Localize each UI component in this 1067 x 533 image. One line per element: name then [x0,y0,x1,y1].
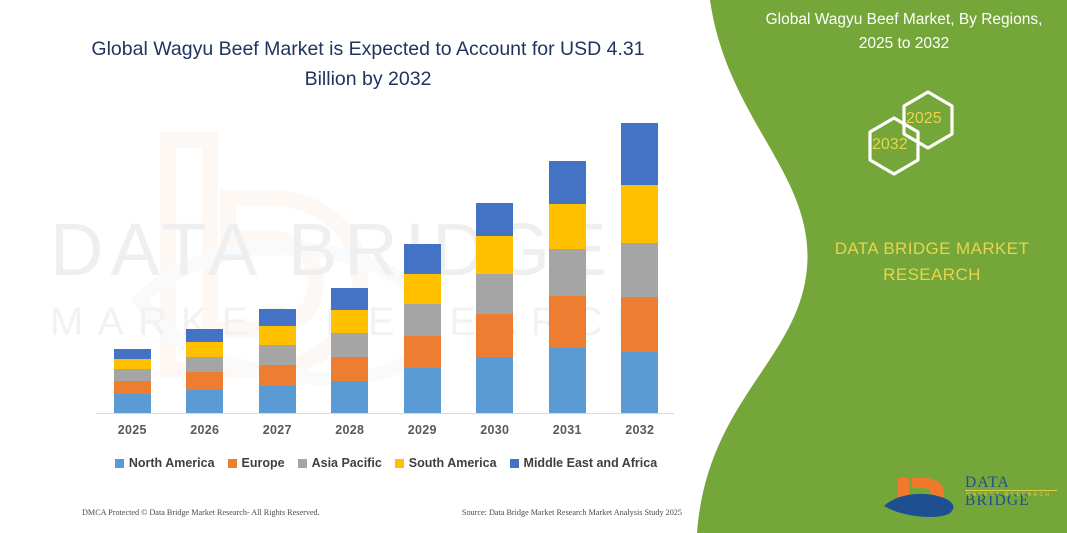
stacked-bar [259,309,296,413]
hexagon-2032-label: 2032 [872,136,908,154]
stacked-bar [476,203,513,413]
hexagon-2025-label: 2025 [906,110,942,128]
legend-item[interactable]: Middle East and Africa [510,456,658,470]
legend-label: Middle East and Africa [524,456,658,470]
bar-segment [621,123,658,186]
legend-item[interactable]: Asia Pacific [298,456,382,470]
bar-segment [476,357,513,413]
x-axis-tick-label: 2029 [386,423,458,437]
bar-column [604,110,676,413]
stacked-bar [404,244,441,413]
legend-swatch-icon [510,459,519,468]
stacked-bar [621,123,658,413]
bar-segment [549,204,586,249]
bar-segment [114,359,151,369]
legend-swatch-icon [395,459,404,468]
bar-segment [259,386,296,413]
chart-legend: North AmericaEuropeAsia PacificSouth Ame… [96,456,676,470]
bar-segment [476,314,513,357]
bar-segment [404,368,441,413]
bar-column [459,110,531,413]
bar-segment [331,381,368,413]
stacked-bar [186,329,223,413]
bar-segment [549,296,586,348]
bar-segment [114,394,151,413]
legend-item[interactable]: South America [395,456,497,470]
bar-segment [114,381,151,395]
stacked-bar [114,349,151,413]
x-axis-tick-label: 2031 [531,423,603,437]
hexagon-group: 2032 2025 [828,88,988,208]
x-axis-labels: 20252026202720282029203020312032 [96,423,676,437]
legend-label: Asia Pacific [312,456,382,470]
right-panel-title: Global Wagyu Beef Market, By Regions, 20… [759,8,1049,56]
bar-segment [621,297,658,352]
bar-segment [549,161,586,204]
bar-segment [621,185,658,242]
legend-label: South America [409,456,497,470]
bar-segment [331,333,368,357]
bar-column [241,110,313,413]
footer: DMCA Protected © Data Bridge Market Rese… [82,508,682,517]
bar-segment [259,326,296,345]
bar-column [531,110,603,413]
brand-title: DATA BRIDGE MARKET RESEARCH [800,236,1064,287]
bar-segment [621,352,658,413]
legend-swatch-icon [228,459,237,468]
bar-segment [549,348,586,413]
footer-dmca-text: DMCA Protected © Data Bridge Market Rese… [82,508,320,517]
x-axis-line [96,413,674,414]
chart-title: Global Wagyu Beef Market is Expected to … [78,34,658,94]
bar-segment [331,357,368,381]
x-axis-tick-label: 2027 [241,423,313,437]
bar-column [96,110,168,413]
bar-segment [186,342,223,357]
legend-swatch-icon [115,459,124,468]
logo-divider [965,490,1057,491]
bar-segment [186,357,223,373]
bar-segment [259,309,296,327]
bar-segment [186,372,223,390]
bar-segment [186,329,223,342]
x-axis-tick-label: 2025 [96,423,168,437]
legend-label: Europe [242,456,285,470]
legend-item[interactable]: North America [115,456,215,470]
bar-segment [549,249,586,296]
hexagon-outlines-icon [828,88,988,208]
bar-segment [476,203,513,236]
stacked-bar-chart [96,110,676,413]
bar-segment [186,390,223,413]
stacked-bar [331,288,368,413]
bar-segment [114,369,151,380]
x-axis-tick-label: 2028 [314,423,386,437]
logo-tagline: MARKET RESEARCH [966,492,1051,498]
legend-item[interactable]: Europe [228,456,285,470]
bar-segment [331,310,368,333]
bar-segment [259,365,296,386]
legend-swatch-icon [298,459,307,468]
bar-segment [114,349,151,358]
bar-segment [621,243,658,297]
x-axis-tick-label: 2030 [459,423,531,437]
bar-segment [404,304,441,335]
x-axis-tick-label: 2026 [169,423,241,437]
x-axis-tick-label: 2032 [604,423,676,437]
bar-segment [404,336,441,368]
bar-segment [476,236,513,274]
bar-column [314,110,386,413]
bar-column [169,110,241,413]
infographic-canvas: DATA BRIDGE MARKET RESEARCH Global Wagyu… [0,0,1067,533]
footer-source-text: Source: Data Bridge Market Research Mark… [462,508,682,517]
bar-segment [404,244,441,274]
legend-label: North America [129,456,215,470]
bar-column [386,110,458,413]
stacked-bar [549,161,586,413]
bar-segment [476,274,513,314]
bar-segment [331,288,368,310]
bar-segment [259,345,296,365]
bar-segment [404,274,441,304]
